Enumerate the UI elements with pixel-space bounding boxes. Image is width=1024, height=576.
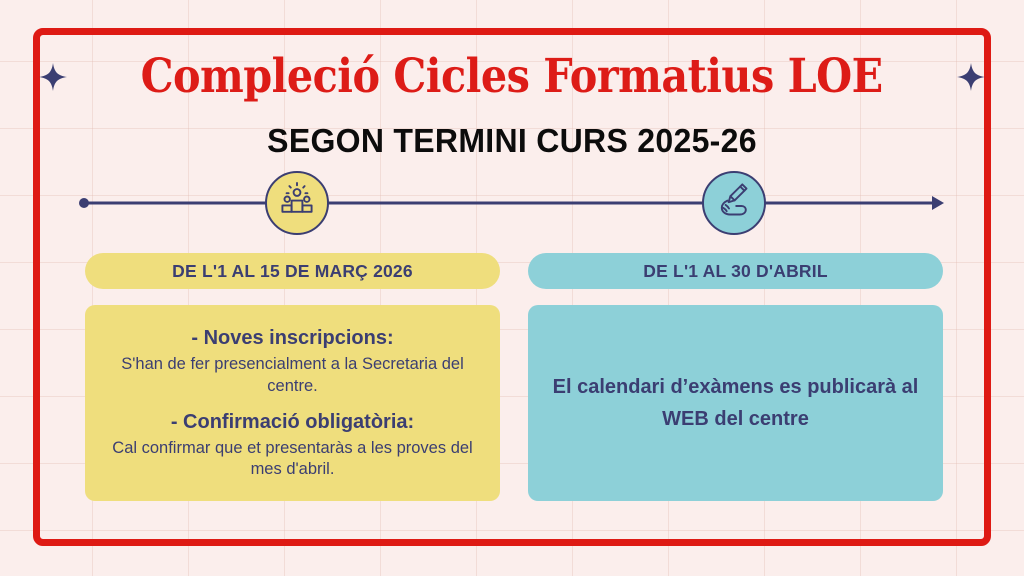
poster-canvas: Compleció Cicles Formatius LOE SEGON TER… bbox=[0, 0, 1024, 576]
column-march: DE L'1 AL 15 DE MARÇ 2026 - Noves inscri… bbox=[85, 253, 500, 501]
march-block-inscriptions-body: S'han de fer presencialment a la Secreta… bbox=[109, 354, 476, 398]
column-march-card: - Noves inscripcions: S'han de fer prese… bbox=[85, 305, 500, 501]
march-block-inscriptions-lead: - Noves inscripcions: bbox=[109, 325, 476, 352]
column-april: DE L'1 AL 30 D'ABRIL El calendari d’exàm… bbox=[528, 253, 943, 501]
march-block-confirmation-body: Cal confirmar que et presentaràs a les p… bbox=[109, 438, 476, 482]
column-march-header: DE L'1 AL 15 DE MARÇ 2026 bbox=[85, 253, 500, 289]
column-april-header: DE L'1 AL 30 D'ABRIL bbox=[528, 253, 943, 289]
column-april-card: El calendari d’exàmens es publicarà al W… bbox=[528, 305, 943, 501]
march-block-confirmation: - Confirmació obligatòria: Cal confirmar… bbox=[109, 409, 476, 482]
march-block-inscriptions: - Noves inscripcions: S'han de fer prese… bbox=[109, 325, 476, 398]
march-block-confirmation-lead: - Confirmació obligatòria: bbox=[109, 409, 476, 436]
timeline-node-april bbox=[702, 171, 766, 235]
hand-writing-pen-icon bbox=[713, 180, 755, 227]
timeline-node-march bbox=[265, 171, 329, 235]
april-card-text: El calendari d’exàmens es publicarà al W… bbox=[552, 371, 919, 436]
group-people-idea-icon bbox=[276, 180, 318, 227]
